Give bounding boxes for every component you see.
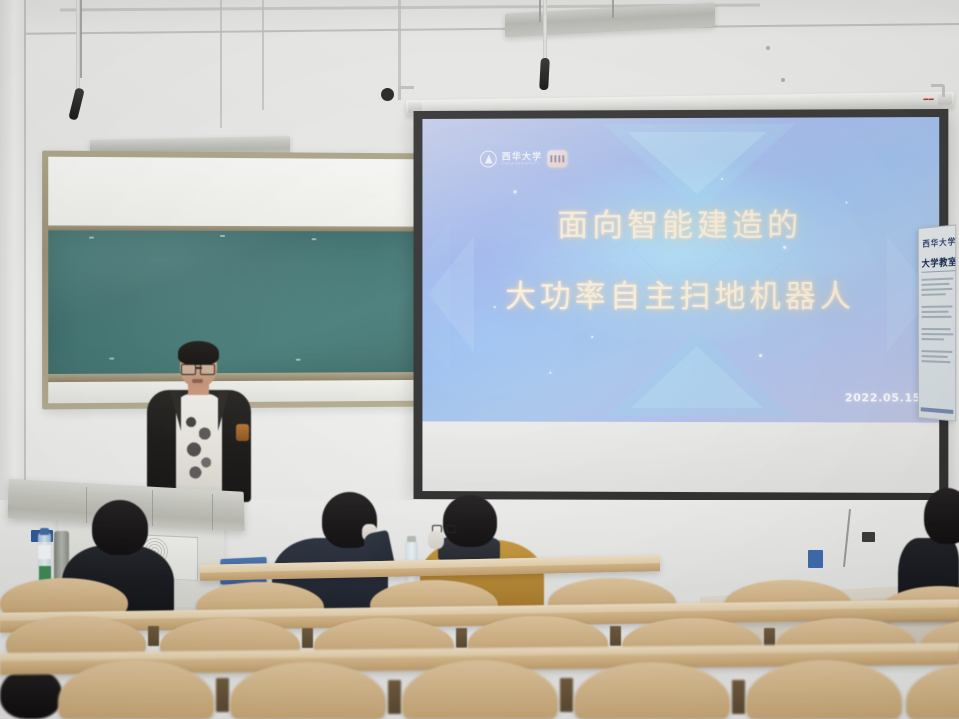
screen-blank-area bbox=[422, 421, 939, 493]
poster-rule bbox=[922, 270, 956, 273]
slide-date: 2022.05.15 bbox=[845, 391, 921, 404]
presenter-hair bbox=[178, 341, 219, 365]
seat-divider bbox=[388, 680, 401, 714]
chevron-shape bbox=[631, 346, 763, 408]
chalk-mark bbox=[296, 359, 301, 361]
slide-title-line-2: 大功率自主扫地机器人 bbox=[422, 281, 939, 315]
wall-conduit bbox=[398, 0, 401, 96]
blackboard-writing-surface bbox=[48, 230, 418, 374]
wall-fixture-dot bbox=[781, 78, 785, 82]
seat-divider bbox=[610, 626, 621, 646]
presenter-mouth bbox=[192, 379, 203, 383]
podium-seam bbox=[152, 490, 153, 526]
attendee-head bbox=[92, 500, 148, 555]
hanging-mic-icon bbox=[539, 58, 550, 90]
hanging-wire bbox=[612, 0, 614, 18]
slide-title-block: 面向智能建造的 大功率自主扫地机器人 bbox=[422, 210, 939, 315]
seat-divider bbox=[302, 628, 313, 648]
wall-poster: 西华大学 大学教室工 bbox=[918, 224, 956, 421]
left-wall-corner-line bbox=[24, 0, 26, 560]
lecture-hall-photo: ▬▬ bbox=[0, 0, 959, 719]
screen-bracket-left bbox=[398, 86, 414, 100]
wall-junction-box bbox=[862, 532, 875, 542]
ceiling-mount-icon bbox=[381, 88, 394, 101]
university-badge-icon bbox=[547, 150, 567, 167]
hanging-wire bbox=[539, 0, 541, 22]
hanging-wire bbox=[80, 0, 82, 78]
hanging-pole bbox=[76, 0, 80, 92]
wall-conduit bbox=[220, 0, 222, 128]
sparkle-dot bbox=[845, 202, 847, 204]
poster-footer-bar bbox=[921, 407, 954, 414]
seat-divider bbox=[148, 626, 159, 646]
sparkle-dot bbox=[759, 354, 762, 357]
slide-logo: 西华大学 XIHUA UNIVERSITY bbox=[480, 150, 567, 167]
left-wall-edge bbox=[0, 0, 26, 560]
seat-divider bbox=[216, 678, 229, 712]
seat-divider bbox=[456, 628, 467, 648]
hanging-pole bbox=[543, 0, 547, 62]
water-bottle-cap bbox=[40, 528, 49, 535]
presenter-tshirt-graphic bbox=[181, 412, 217, 484]
wall-blue-label bbox=[808, 550, 823, 568]
chalk-mark bbox=[220, 235, 225, 237]
chevron-shape bbox=[627, 132, 767, 194]
seat-divider bbox=[560, 678, 573, 712]
screen-bracket-right bbox=[931, 84, 945, 97]
logo-university-subtext: XIHUA UNIVERSITY bbox=[502, 161, 543, 166]
poster-body-lines bbox=[922, 277, 954, 366]
attendee-partial-head bbox=[0, 668, 62, 719]
presentation-slide: 西华大学 XIHUA UNIVERSITY 面向智能建造的 大功率自主扫地机器人… bbox=[422, 117, 939, 423]
projection-screen-surface: 西华大学 XIHUA UNIVERSITY 面向智能建造的 大功率自主扫地机器人… bbox=[422, 117, 939, 493]
glasses-icon bbox=[181, 364, 215, 373]
sparkle-dot bbox=[721, 178, 723, 180]
logo-university-name: 西华大学 bbox=[502, 152, 543, 161]
poster-logo-text: 西华大学 bbox=[923, 236, 957, 250]
presenter-lapel bbox=[218, 391, 229, 431]
wall-conduit bbox=[262, 0, 264, 110]
podium-seam bbox=[86, 487, 87, 523]
water-bottle-cap bbox=[407, 536, 416, 542]
attendee-head bbox=[443, 495, 497, 547]
chalk-mark bbox=[89, 237, 94, 239]
presenter-sleeve-patch bbox=[236, 424, 249, 441]
blackboard bbox=[42, 151, 424, 410]
poster-heading: 大学教室工 bbox=[922, 254, 957, 270]
university-seal-icon bbox=[480, 151, 497, 168]
face-mask-icon bbox=[428, 531, 444, 549]
attendee-head bbox=[924, 488, 959, 544]
projection-screen: 西华大学 XIHUA UNIVERSITY 面向智能建造的 大功率自主扫地机器人… bbox=[414, 109, 949, 501]
blackboard-upper-panel bbox=[48, 157, 418, 227]
glasses-bridge bbox=[196, 367, 202, 369]
slide-title-line-1: 面向智能建造的 bbox=[422, 210, 939, 244]
sparkle-dot bbox=[591, 336, 593, 338]
podium-seam bbox=[212, 494, 213, 530]
chalk-mark bbox=[109, 358, 114, 360]
seat-divider bbox=[732, 680, 745, 714]
wall-fixture-dot bbox=[766, 46, 770, 50]
sparkle-dot bbox=[549, 372, 551, 374]
presenter-lapel bbox=[170, 391, 181, 431]
water-bottle-label bbox=[38, 545, 51, 559]
sparkle-dot bbox=[514, 190, 517, 193]
chalk-mark bbox=[312, 238, 317, 240]
